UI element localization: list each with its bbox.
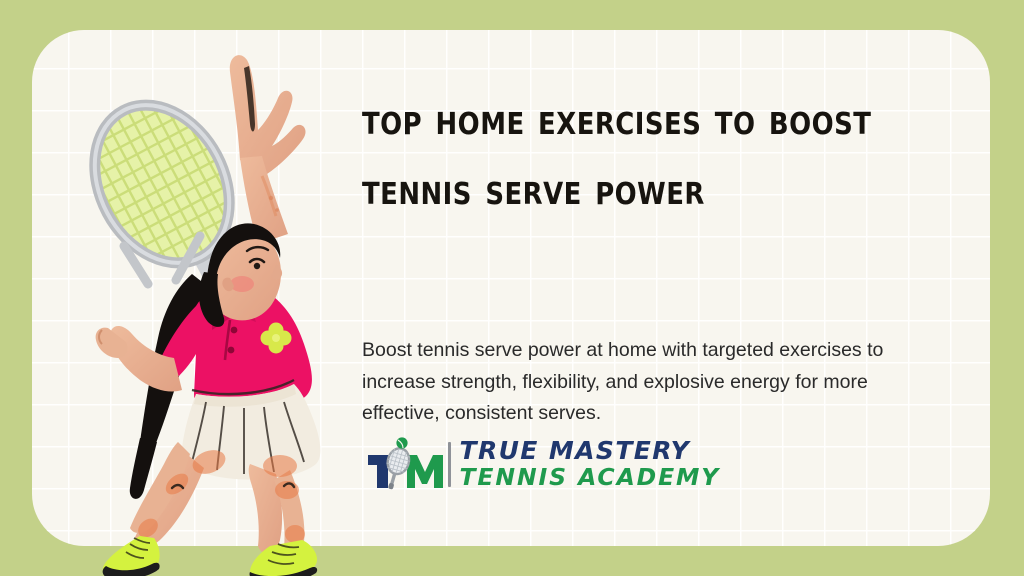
poster-canvas: Top Home Exercises to Boost Tennis Serve… — [0, 0, 1024, 576]
text-column: Top Home Exercises to Boost Tennis Serve… — [362, 86, 962, 225]
tennis-player-illustration — [44, 38, 374, 576]
legs — [130, 442, 305, 556]
logo-line-secondary: TENNIS ACADEMY — [460, 466, 721, 490]
tossing-arm — [230, 55, 306, 244]
logo-wordmark: TRUE MASTERY TENNIS ACADEMY — [460, 438, 721, 490]
page-title: Top Home Exercises to Boost Tennis Serve… — [362, 86, 938, 225]
logo-monogram-icon — [367, 434, 445, 494]
page-description: Boost tennis serve power at home with ta… — [362, 335, 942, 430]
brand-logo: TRUE MASTERY TENNIS ACADEMY — [367, 434, 720, 494]
logo-line-primary: TRUE MASTERY — [460, 438, 721, 463]
logo-divider — [448, 442, 451, 487]
